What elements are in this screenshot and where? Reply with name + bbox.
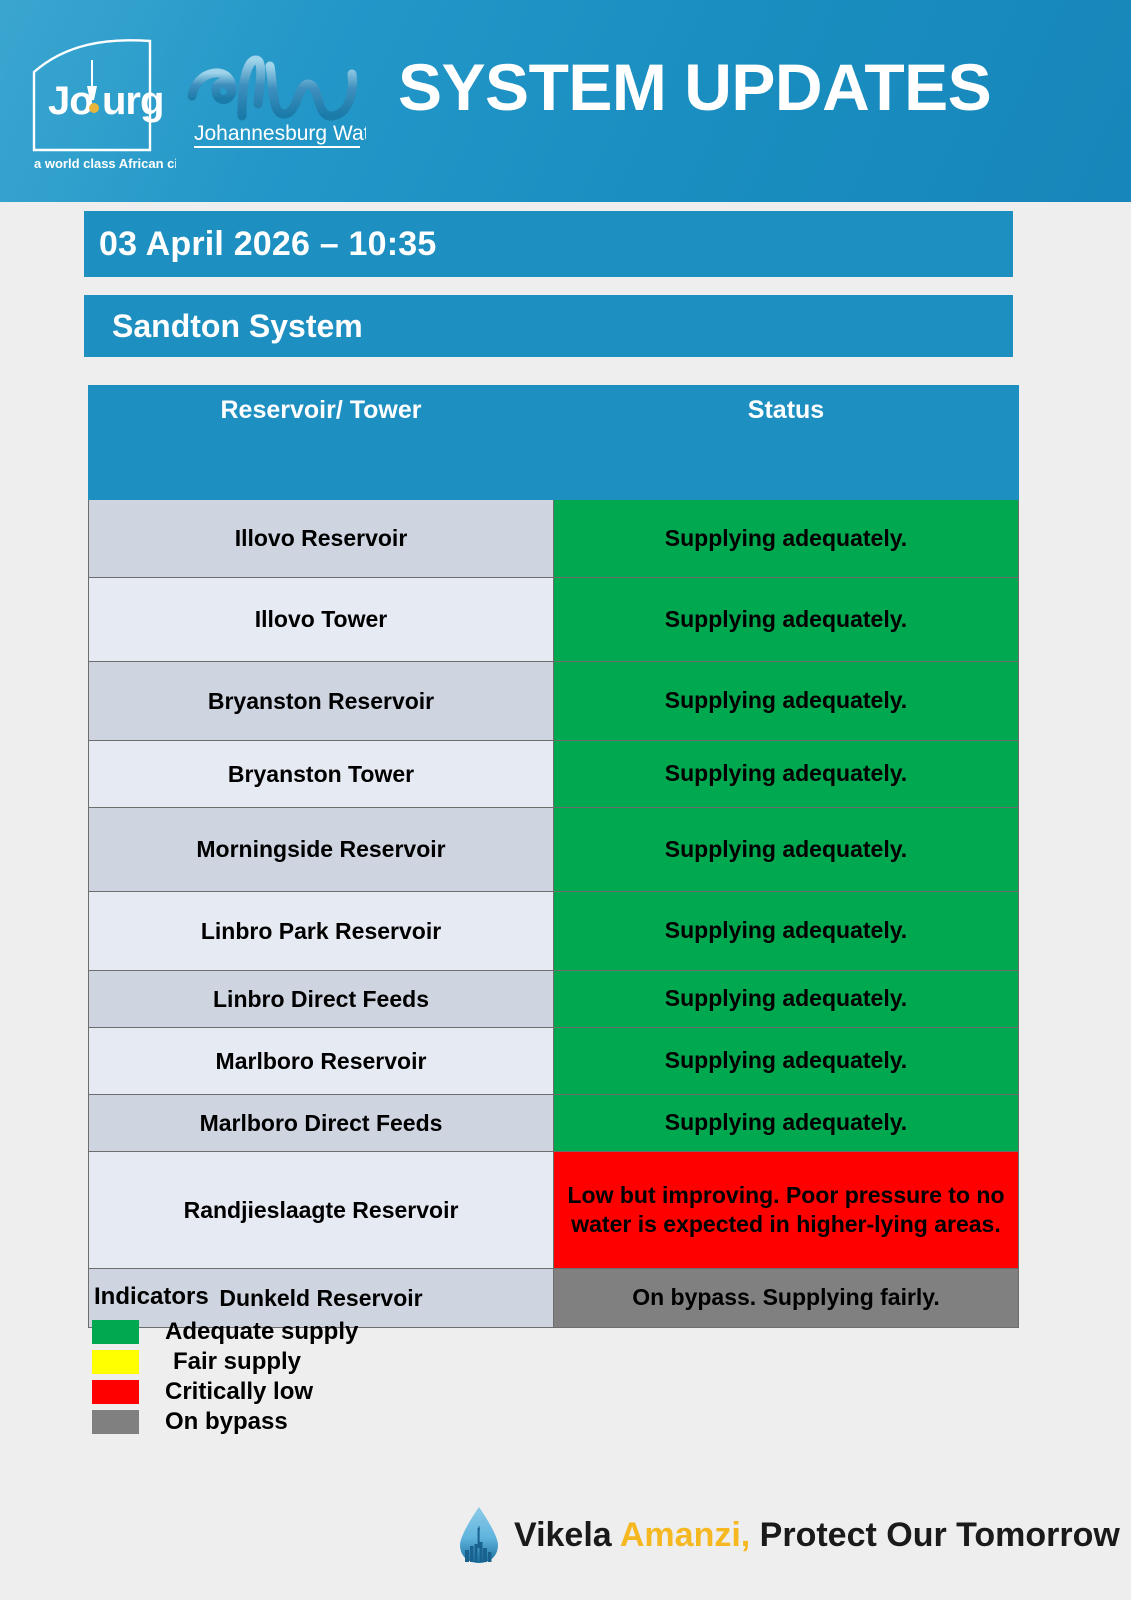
legend-color-swatch [92, 1410, 139, 1434]
legend-item: On bypass [92, 1407, 592, 1437]
legend-color-swatch [92, 1380, 139, 1404]
joburg-logo: Jo urg a world class African city [26, 28, 176, 173]
status-cell: On bypass. Supplying fairly. [554, 1269, 1019, 1328]
table-row: Linbro Direct FeedsSupplying adequately. [89, 971, 1019, 1028]
footer-text-part2: Protect Our Tomorrow [750, 1516, 1120, 1554]
system-name: Sandton System [84, 308, 363, 345]
status-cell: Supplying adequately. [554, 971, 1019, 1028]
column-header-reservoir: Reservoir/ Tower [89, 386, 554, 500]
footer-tagline: Vikela Amanzi, Protect Our Tomorrow [514, 1518, 1120, 1552]
reservoir-status-table: Reservoir/ Tower Status Illovo Reservoir… [88, 385, 1019, 1328]
reservoir-name-cell: Illovo Reservoir [89, 500, 554, 578]
legend-list: Adequate supplyFair supplyCritically low… [92, 1317, 592, 1437]
status-cell: Supplying adequately. [554, 741, 1019, 808]
table-row: Morningside ReservoirSupplying adequatel… [89, 808, 1019, 892]
table-row: Linbro Park ReservoirSupplying adequatel… [89, 892, 1019, 971]
table-row: Bryanston TowerSupplying adequately. [89, 741, 1019, 808]
status-cell: Low but improving. Poor pressure to no w… [554, 1152, 1019, 1269]
header-banner: Jo urg a world class African city [0, 0, 1131, 202]
page-title: SYSTEM UPDATES [398, 54, 1098, 120]
legend-label: Adequate supply [165, 1318, 358, 1346]
status-cell: Supplying adequately. [554, 892, 1019, 971]
table-row: Marlboro Direct FeedsSupplying adequatel… [89, 1095, 1019, 1152]
footer: Vikela Amanzi, Protect Our Tomorrow [0, 1500, 1131, 1600]
status-cell: Supplying adequately. [554, 500, 1019, 578]
reservoir-name-cell: Linbro Direct Feeds [89, 971, 554, 1028]
reservoir-name-cell: Illovo Tower [89, 578, 554, 662]
legend-color-swatch [92, 1320, 139, 1344]
status-cell: Supplying adequately. [554, 578, 1019, 662]
status-cell: Supplying adequately. [554, 808, 1019, 892]
status-cell: Supplying adequately. [554, 1028, 1019, 1095]
table-header: Reservoir/ Tower Status [89, 386, 1019, 500]
reservoir-name-cell: Linbro Park Reservoir [89, 892, 554, 971]
svg-text:urg: urg [102, 79, 163, 123]
date-bar: 03 April 2026 – 10:35 [84, 211, 1013, 277]
svg-text:Jo: Jo [48, 79, 93, 123]
footer-text-amanzi: Amanzi, [620, 1516, 750, 1554]
indicators-title: Indicators [94, 1283, 592, 1311]
legend-label: On bypass [165, 1408, 288, 1436]
reservoir-name-cell: Marlboro Reservoir [89, 1028, 554, 1095]
table-row: Illovo ReservoirSupplying adequately. [89, 500, 1019, 578]
reservoir-name-cell: Randjieslaagte Reservoir [89, 1152, 554, 1269]
table-header-row: Reservoir/ Tower Status [89, 386, 1019, 500]
status-cell: Supplying adequately. [554, 662, 1019, 741]
status-cell: Supplying adequately. [554, 1095, 1019, 1152]
system-bar: Sandton System [84, 295, 1013, 357]
legend-label: Critically low [165, 1378, 313, 1406]
table-row: Bryanston ReservoirSupplying adequately. [89, 662, 1019, 741]
footer-text-part1: Vikela [514, 1516, 620, 1554]
legend-item: Adequate supply [92, 1317, 592, 1347]
table-row: Marlboro ReservoirSupplying adequately. [89, 1028, 1019, 1095]
indicators-legend: Indicators Adequate supplyFair supplyCri… [92, 1283, 592, 1437]
legend-label: Fair supply [165, 1348, 301, 1376]
water-drop-icon [458, 1506, 500, 1564]
table-row: Illovo TowerSupplying adequately. [89, 578, 1019, 662]
reservoir-name-cell: Morningside Reservoir [89, 808, 554, 892]
reservoir-name-cell: Marlboro Direct Feeds [89, 1095, 554, 1152]
johannesburg-water-logo: Johannesburg Water [186, 44, 366, 154]
reservoir-name-cell: Bryanston Reservoir [89, 662, 554, 741]
legend-color-swatch [92, 1350, 139, 1374]
column-header-status: Status [554, 386, 1019, 500]
jw-logo-text: Johannesburg Water [194, 122, 366, 145]
reservoir-name-cell: Bryanston Tower [89, 741, 554, 808]
legend-item: Critically low [92, 1377, 592, 1407]
legend-item: Fair supply [92, 1347, 592, 1377]
date-text: 03 April 2026 – 10:35 [84, 225, 437, 264]
table-row: Randjieslaagte ReservoirLow but improvin… [89, 1152, 1019, 1269]
joburg-tagline: a world class African city [34, 156, 176, 171]
table-body: Illovo ReservoirSupplying adequately.Ill… [89, 500, 1019, 1328]
